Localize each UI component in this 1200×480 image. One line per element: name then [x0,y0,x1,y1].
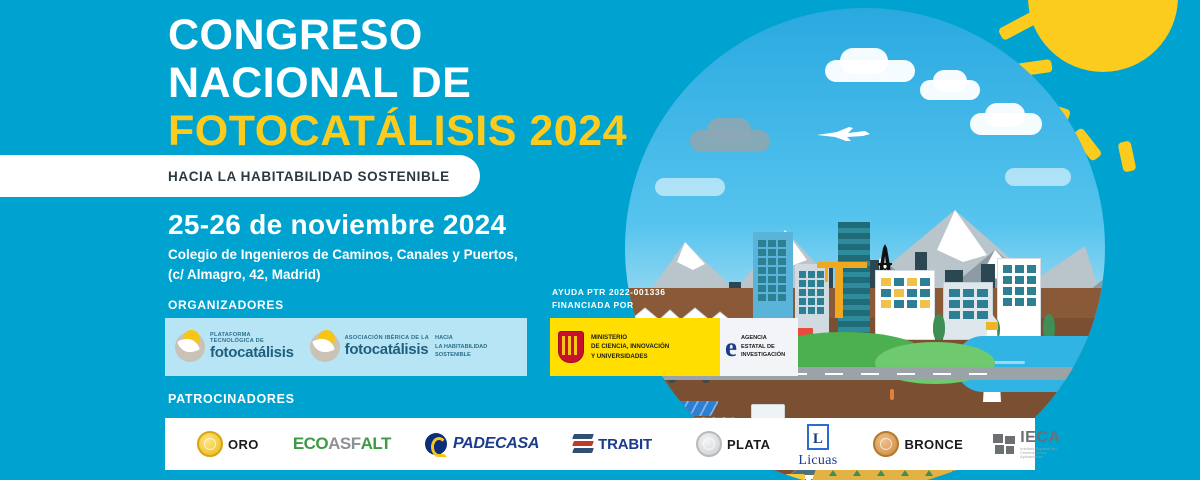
airplane-icon [815,126,873,142]
agency-logo[interactable]: e AGENCIA ESTATAL DE INVESTIGACIÓN [720,318,798,376]
trabit-name: TRABIT [598,436,652,453]
org1-name: fotocatálisis [210,345,294,361]
sponsor-tier-oro: ORO [197,418,259,470]
organizer-logo-asociacion[interactable]: ASOCIACIÓN IBÉRICA DE LA fotocatálisis H… [310,332,488,362]
licuas-mark-icon: L [807,424,829,450]
ministry-line-3: Y UNIVERSIDADES [591,352,669,362]
title-line-2: NACIONAL DE [168,62,638,105]
ministry-logo[interactable]: MINISTERIO DE CIENCIA, INNOVACIÓN Y UNIV… [550,318,720,376]
sponsors-bar: ORO ECOASFALT PADECASA TRABIT PLATA L Li… [165,418,1035,470]
ieca-mark-icon [993,434,1015,454]
ieca-subtitle: Instituto Español del Cemento y sus Apli… [1020,447,1060,459]
title-line-3: FOTOCATÁLISIS 2024 [168,110,638,153]
bronze-medal-icon [873,431,899,457]
globe-scene [625,8,1105,480]
venue-line-1: Colegio de Ingenieros de Caminos, Canale… [168,245,568,265]
org2-tagline: HACIALA HABITABILIDADSOSTENIBLE [435,334,487,359]
aei-mark-icon: e [725,334,737,361]
ministry-line-1: MINISTERIO [591,333,669,343]
ecoasfalt-part-1: ECO [293,434,328,454]
sponsor-logo-licuas[interactable]: L Licuas [798,418,837,470]
page-title: CONGRESO NACIONAL DE FOTOCATÁLISIS 2024 [168,14,638,158]
pedestrian-icon [890,389,894,400]
agency-line-1: AGENCIA [741,334,785,343]
ministry-line-2: DE CIENCIA, INNOVACIÓN [591,342,669,352]
ecoasfalt-part-3: ALT [361,434,391,454]
silver-medal-icon [696,431,722,457]
cloud-icon [933,70,967,92]
venue-line-2: (c/ Almagro, 42, Madrid) [168,265,568,285]
tagline-pill: HACIA LA HABITABILIDAD SOSTENIBLE [0,155,480,197]
agency-line-2: ESTATAL DE [741,343,785,352]
funding-label: AYUDA PTR 2022-001336 FINANCIADA POR [552,286,666,312]
padecasa-name: PADECASA [453,435,539,453]
sponsor-tier-plata: PLATA [696,418,770,470]
sponsors-label: PATROCINADORES [168,392,295,406]
leaf-icon [175,332,205,362]
funding-bar: MINISTERIO DE CIENCIA, INNOVACIÓN Y UNIV… [550,318,798,376]
gold-medal-icon [197,431,223,457]
organizers-bar: PLATAFORMA TECNOLÓGICA DE fotocatálisis … [165,318,527,376]
licuas-name: Licuas [798,453,837,468]
trabit-mark-icon [573,433,593,455]
sponsor-logo-ecoasfalt[interactable]: ECOASFALT [293,418,391,470]
tagline-text: HACIA LA HABITABILIDAD SOSTENIBLE [168,169,450,184]
tier-label-oro: ORO [228,437,259,452]
apartment [875,270,935,340]
agency-line-3: INVESTIGACIÓN [741,351,785,360]
org2-name: fotocatálisis [345,342,429,358]
event-venue: Colegio de Ingenieros de Caminos, Canale… [168,245,568,284]
padecasa-mark-icon [425,433,447,455]
tier-label-bronce: BRONCE [904,437,963,452]
sponsor-logo-ieca[interactable]: IECA Instituto Español del Cemento y sus… [993,418,1060,470]
funding-label-1: AYUDA PTR 2022-001336 [552,286,666,299]
tier-label-plata: PLATA [727,437,770,452]
coat-of-arms-icon [558,331,584,363]
title-line-1: CONGRESO [168,14,638,57]
ieca-name: IECA [1020,429,1060,446]
cloud-icon [840,48,888,74]
poster-canvas: CONGRESO NACIONAL DE FOTOCATÁLISIS 2024 … [0,0,1200,480]
funding-label-2: FINANCIADA POR [552,299,666,312]
cloud-icon [707,118,751,142]
sponsor-logo-padecasa[interactable]: PADECASA [425,418,539,470]
illustration [600,0,1200,480]
sponsor-tier-bronce: BRONCE [873,418,963,470]
organizers-label: ORGANIZADORES [168,298,284,312]
event-dates: 25-26 de noviembre 2024 [168,209,506,241]
sponsor-logo-trabit[interactable]: TRABIT [573,418,652,470]
cloud-icon [985,103,1025,127]
tree-icon [933,314,945,340]
ecoasfalt-part-2: ASF [328,434,361,454]
organizer-logo-plataforma[interactable]: PLATAFORMA TECNOLÓGICA DE fotocatálisis [175,332,294,362]
crane-icon [813,256,871,318]
leaf-icon [310,332,340,362]
